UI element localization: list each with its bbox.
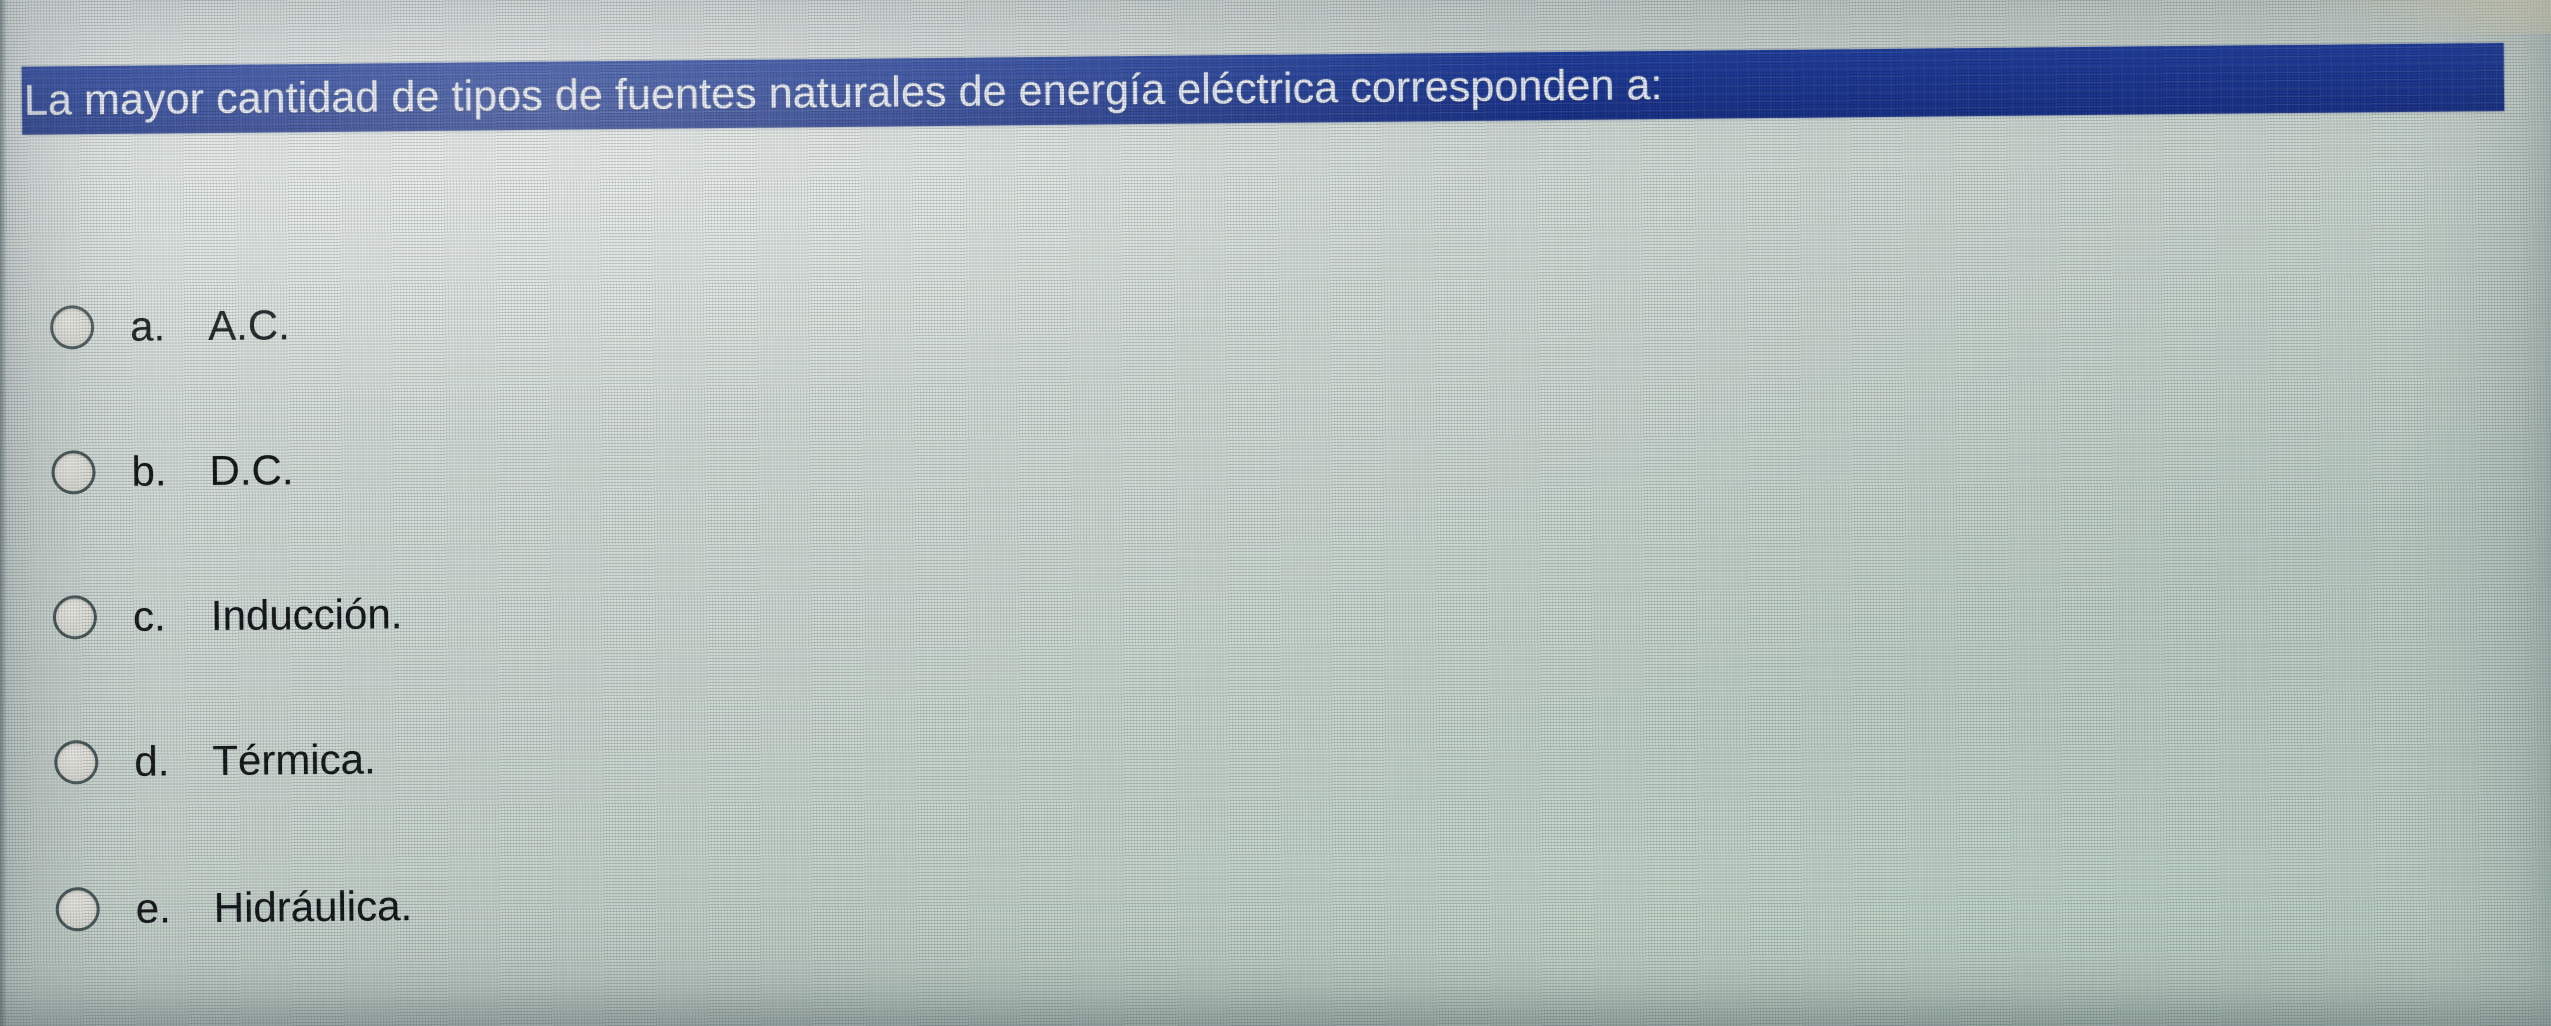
answer-option-d[interactable]: d. Térmica. (54, 729, 376, 792)
answer-option-c[interactable]: c. Inducción. (53, 584, 403, 647)
question-text-highlight: La mayor cantidad de tipos de fuentes na… (22, 43, 2505, 135)
monitor-surface: La mayor cantidad de tipos de fuentes na… (0, 0, 2551, 1026)
answer-option-e[interactable]: e. Hidráulica. (55, 876, 412, 939)
option-label-c: Inducción. (211, 590, 403, 640)
answer-option-a[interactable]: a. A.C. (50, 295, 290, 357)
option-letter-e: e. (136, 884, 214, 933)
screen-photo: La mayor cantidad de tipos de fuentes na… (0, 0, 2551, 1026)
radio-button-d[interactable] (54, 740, 98, 784)
option-letter-a: a. (130, 302, 208, 351)
quiz-question-page: La mayor cantidad de tipos de fuentes na… (0, 0, 2551, 1026)
option-label-d: Térmica. (212, 735, 376, 785)
option-letter-b: b. (131, 447, 209, 496)
radio-button-a[interactable] (50, 305, 94, 349)
answer-option-b[interactable]: b. D.C. (51, 440, 294, 502)
option-label-b: D.C. (209, 446, 293, 495)
radio-button-b[interactable] (51, 450, 95, 494)
option-letter-d: d. (134, 737, 212, 786)
option-label-e: Hidráulica. (213, 882, 412, 932)
question-stem: La mayor cantidad de tipos de fuentes na… (24, 49, 2504, 129)
radio-button-e[interactable] (56, 887, 100, 931)
option-label-a: A.C. (208, 301, 290, 350)
radio-button-c[interactable] (53, 595, 97, 639)
option-letter-c: c. (133, 592, 211, 641)
